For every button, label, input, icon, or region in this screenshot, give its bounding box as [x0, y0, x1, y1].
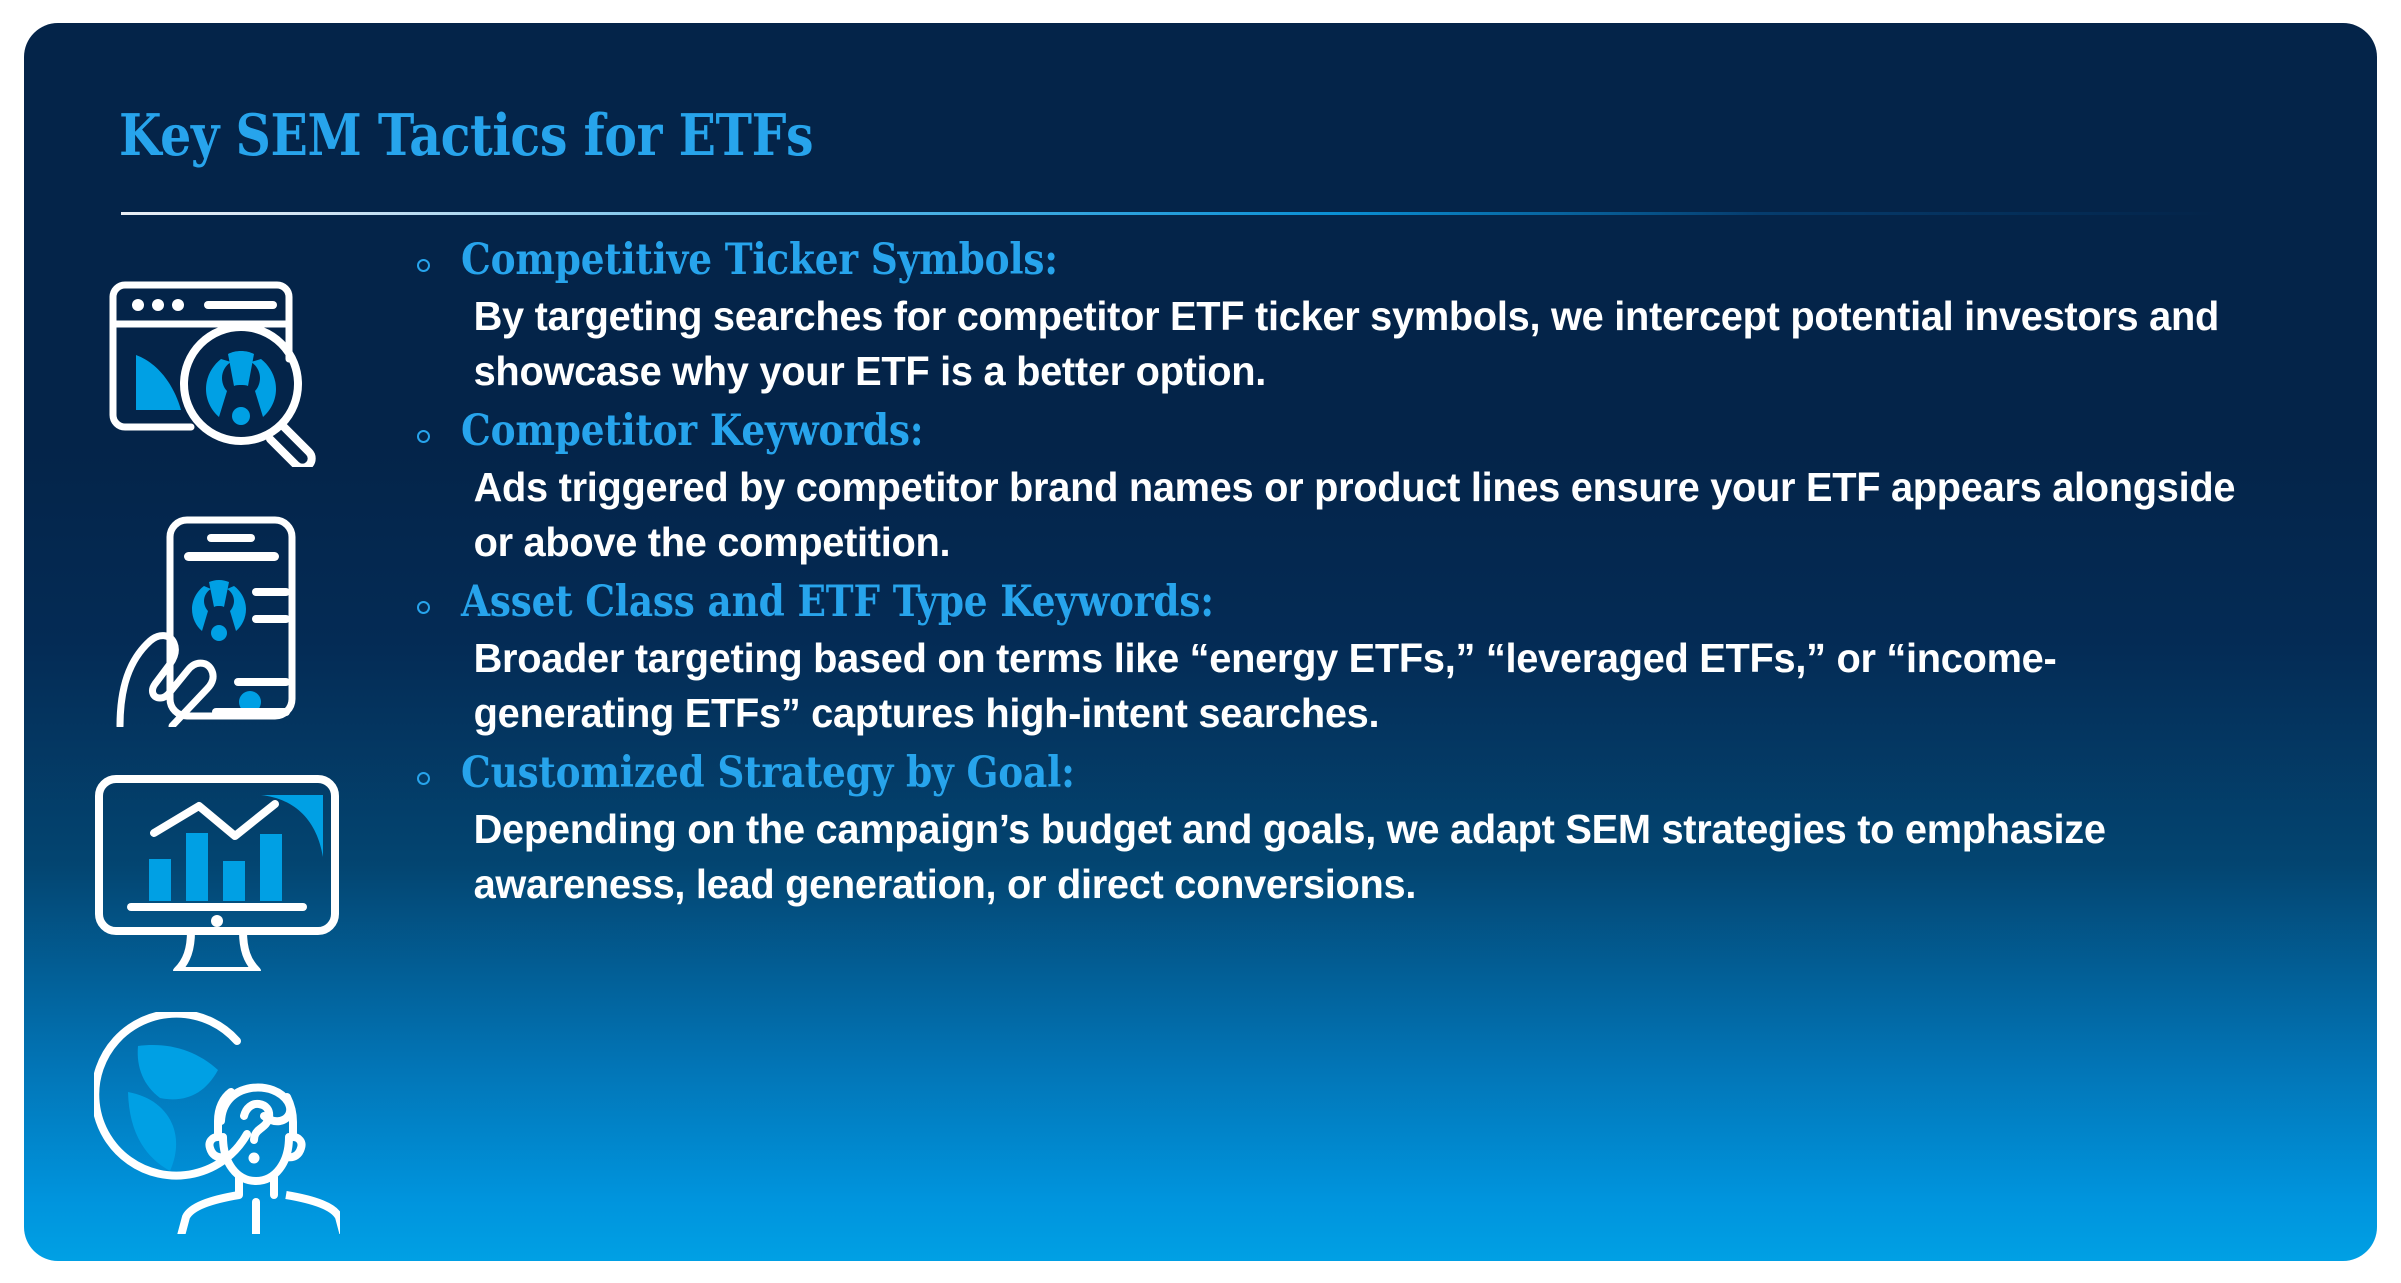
person-question-pie-chart-icon: [82, 997, 352, 1249]
tactic-body: Depending on the campaign’s budget and g…: [461, 802, 2254, 911]
browser-window-search-alert-icon: [82, 241, 352, 493]
page-title: Key SEM Tactics for ETFs: [119, 107, 813, 164]
tactic-heading: Asset Class and ETF Type Keywords:: [461, 573, 2128, 631]
title-divider: [121, 212, 2221, 215]
tactic-body: Broader targeting based on terms like “e…: [461, 631, 2254, 740]
tactic-body: By targeting searches for competitor ETF…: [461, 289, 2254, 398]
hand-holding-smartphone-alert-icon: [82, 493, 352, 745]
tactic-heading: Competitor Keywords:: [461, 402, 2128, 460]
content-area: Competitive Ticker Symbols: By targeting…: [24, 231, 2377, 1249]
desktop-monitor-bar-chart-icon: [82, 745, 352, 997]
tactics-list: Competitive Ticker Symbols: By targeting…: [409, 231, 2377, 915]
tactic-heading: Competitive Ticker Symbols:: [461, 231, 2128, 289]
bullet-circle-icon: [417, 259, 430, 272]
tactic-body: Ads triggered by competitor brand names …: [461, 460, 2254, 569]
list-item: Competitor Keywords: Ads triggered by co…: [409, 402, 2377, 569]
infographic-card: Key SEM Tactics for ETFs: [24, 23, 2377, 1261]
icon-column: [24, 231, 409, 1249]
list-item: Competitive Ticker Symbols: By targeting…: [409, 231, 2377, 398]
list-item: Asset Class and ETF Type Keywords: Broad…: [409, 573, 2377, 740]
list-item: Customized Strategy by Goal: Depending o…: [409, 744, 2377, 911]
bullet-circle-icon: [417, 430, 430, 443]
bullet-circle-icon: [417, 772, 430, 785]
bullet-circle-icon: [417, 601, 430, 614]
tactic-heading: Customized Strategy by Goal:: [461, 744, 2128, 802]
